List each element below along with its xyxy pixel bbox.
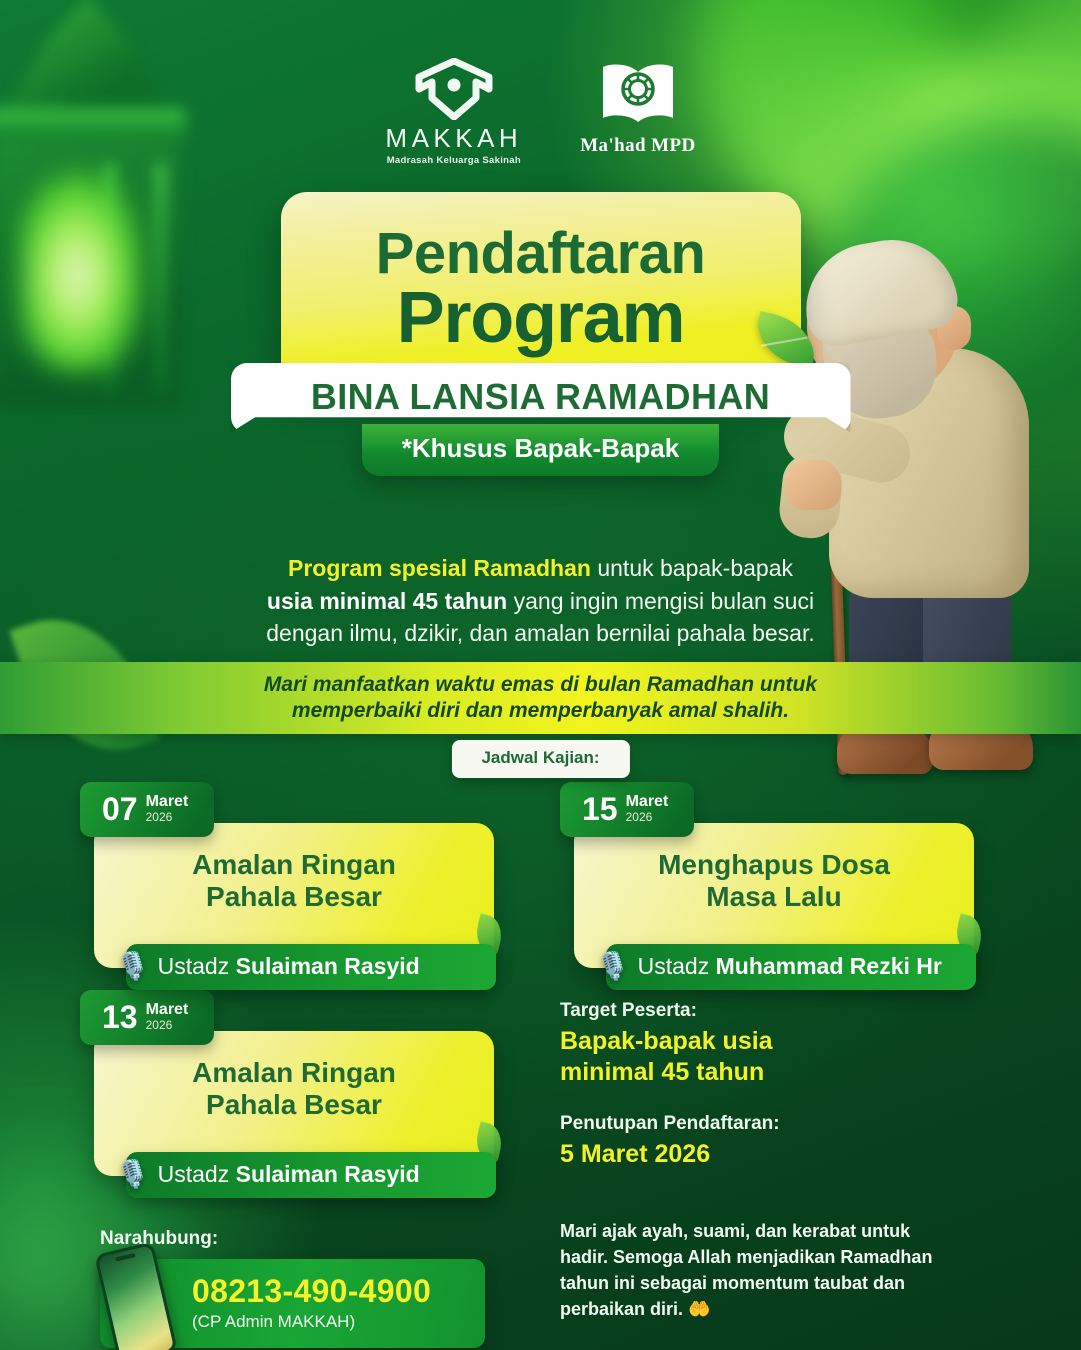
speaker-fullname: Sulaiman Rasyid (236, 1161, 420, 1187)
quote-band: Mari manfaatkan waktu emas di bulan Rama… (0, 662, 1081, 734)
target-participants-line-1: Bapak-bapak usia (560, 1027, 773, 1055)
date-day: 15 (582, 793, 618, 825)
speaker-prefix: Ustadz (158, 953, 236, 979)
description-highlight-2: usia minimal 45 tahun (267, 588, 507, 614)
contact-label: Narahubung: (100, 1228, 485, 1250)
speaker-fullname: Sulaiman Rasyid (236, 953, 420, 979)
schedule-card-body: Amalan Ringan Pahala Besar 🎙️ Ustadz Sul… (94, 1031, 494, 1176)
microphone-icon: 🎙️ (116, 1161, 150, 1188)
logo-makkah-tagline: Madrasah Keluarga Sakinah (387, 155, 521, 166)
description-line-3: dengan ilmu, dzikir, dan amalan bernilai… (0, 617, 1081, 650)
description-line-2: usia minimal 45 tahun yang ingin mengisi… (0, 585, 1081, 618)
poster-canvas: MAKKAH Madrasah Keluarga Sakinah Ma'had … (0, 0, 1081, 1350)
date-year: 2026 (626, 811, 669, 824)
date-month: Maret (626, 794, 669, 811)
title-card: Pendaftaran Program (281, 192, 801, 393)
phone-box[interactable]: 08213-490-4900 (CP Admin MAKKAH) (100, 1259, 485, 1348)
contact-admin-name: (CP Admin MAKKAH) (192, 1312, 467, 1332)
title-block: Pendaftaran Program BINA LANSIA RAMADHAN… (0, 192, 1081, 476)
date-month: Maret (146, 794, 189, 811)
session-title: Amalan Ringan Pahala Besar (112, 1057, 476, 1122)
session-title-line-2: Masa Lalu (706, 881, 841, 912)
target-participants-value: Bapak-bapak usia minimal 45 tahun (560, 1026, 780, 1087)
speaker-name: Ustadz Sulaiman Rasyid (158, 953, 420, 980)
khusus-badge-text: *Khusus Bapak-Bapak (402, 433, 679, 463)
target-info-block: Target Peserta: Bapak-bapak usia minimal… (560, 1000, 780, 1170)
speaker-fullname: Muhammad Rezki Hr (716, 953, 942, 979)
date-day: 07 (102, 793, 138, 825)
schedule-card-2[interactable]: 15 Maret 2026 Menghapus Dosa Masa Lalu 🎙… (560, 782, 975, 968)
quote-line-2: memperbaiki diri dan memperbanyak amal s… (292, 699, 789, 722)
contact-block: Narahubung: 08213-490-4900 (CP Admin MAK… (100, 1228, 485, 1348)
session-title-line-1: Amalan Ringan (192, 1057, 396, 1088)
date-year: 2026 (146, 811, 189, 824)
speaker-prefix: Ustadz (158, 1161, 236, 1187)
target-participants-line-2: minimal 45 tahun (560, 1058, 764, 1086)
schedule-label-text: Jadwal Kajian: (481, 748, 599, 767)
smartphone-icon (94, 1242, 178, 1350)
speaker-name: Ustadz Muhammad Rezki Hr (638, 953, 942, 980)
registration-closing-label: Penutupan Pendaftaran: (560, 1113, 780, 1135)
session-title-line-1: Menghapus Dosa (658, 849, 890, 880)
speaker-prefix: Ustadz (638, 953, 716, 979)
speaker-bar: 🎙️ Ustadz Sulaiman Rasyid (126, 1152, 496, 1198)
registration-closing-date: 5 Maret 2026 (560, 1139, 780, 1170)
date-badge: 07 Maret 2026 (80, 782, 214, 837)
session-title-line-2: Pahala Besar (206, 881, 382, 912)
speaker-bar: 🎙️ Ustadz Muhammad Rezki Hr (606, 944, 976, 990)
microphone-icon: 🎙️ (596, 953, 630, 980)
date-year: 2026 (146, 1019, 189, 1032)
date-month: Maret (146, 1002, 189, 1019)
microphone-icon: 🎙️ (116, 953, 150, 980)
description-rest-1: untuk bapak-bapak (591, 555, 793, 581)
ribbon-text: BINA LANSIA RAMADHAN (311, 376, 770, 417)
schedule-label-pill: Jadwal Kajian: (451, 740, 629, 778)
speaker-name: Ustadz Sulaiman Rasyid (158, 1161, 420, 1188)
schedule-card-3[interactable]: 13 Maret 2026 Amalan Ringan Pahala Besar… (80, 990, 495, 1176)
khusus-badge: *Khusus Bapak-Bapak (362, 424, 719, 476)
closing-note: Mari ajak ayah, suami, dan kerabat untuk… (560, 1218, 960, 1322)
mosque-house-icon (415, 58, 493, 120)
speaker-bar: 🎙️ Ustadz Sulaiman Rasyid (126, 944, 496, 990)
session-title: Amalan Ringan Pahala Besar (112, 849, 476, 914)
logo-makkah-name: MAKKAH (385, 123, 522, 154)
title-line-1: Pendaftaran (305, 226, 777, 282)
logo-makkah: MAKKAH Madrasah Keluarga Sakinah (385, 58, 522, 166)
date-badge: 15 Maret 2026 (560, 782, 694, 837)
left-shoe (837, 728, 933, 774)
target-participants-label: Target Peserta: (560, 1000, 780, 1022)
logo-row: MAKKAH Madrasah Keluarga Sakinah Ma'had … (0, 58, 1081, 166)
session-title: Menghapus Dosa Masa Lalu (592, 849, 956, 914)
session-title-line-2: Pahala Besar (206, 1089, 382, 1120)
quote-band-text: Mari manfaatkan waktu emas di bulan Rama… (264, 672, 817, 725)
contact-phone-number[interactable]: 08213-490-4900 (192, 1275, 467, 1307)
date-day: 13 (102, 1001, 138, 1033)
description-line-1: Program spesial Ramadhan untuk bapak-bap… (0, 552, 1081, 585)
logo-mahad-mpd: Ma'had MPD (580, 58, 695, 157)
open-book-icon (595, 58, 681, 130)
schedule-card-1[interactable]: 07 Maret 2026 Amalan Ringan Pahala Besar… (80, 782, 495, 968)
schedule-card-body: Amalan Ringan Pahala Besar 🎙️ Ustadz Sul… (94, 823, 494, 968)
date-badge: 13 Maret 2026 (80, 990, 214, 1045)
session-title-line-1: Amalan Ringan (192, 849, 396, 880)
schedule-card-body: Menghapus Dosa Masa Lalu 🎙️ Ustadz Muham… (574, 823, 974, 968)
description-paragraph: Program spesial Ramadhan untuk bapak-bap… (0, 552, 1081, 650)
description-highlight-1: Program spesial Ramadhan (288, 555, 591, 581)
logo-mahad-name: Ma'had MPD (580, 135, 695, 157)
description-rest-2: yang ingin mengisi bulan suci (507, 588, 814, 614)
title-ribbon: BINA LANSIA RAMADHAN (231, 363, 851, 433)
title-line-2: Program (305, 284, 777, 352)
quote-line-1: Mari manfaatkan waktu emas di bulan Rama… (264, 673, 817, 696)
